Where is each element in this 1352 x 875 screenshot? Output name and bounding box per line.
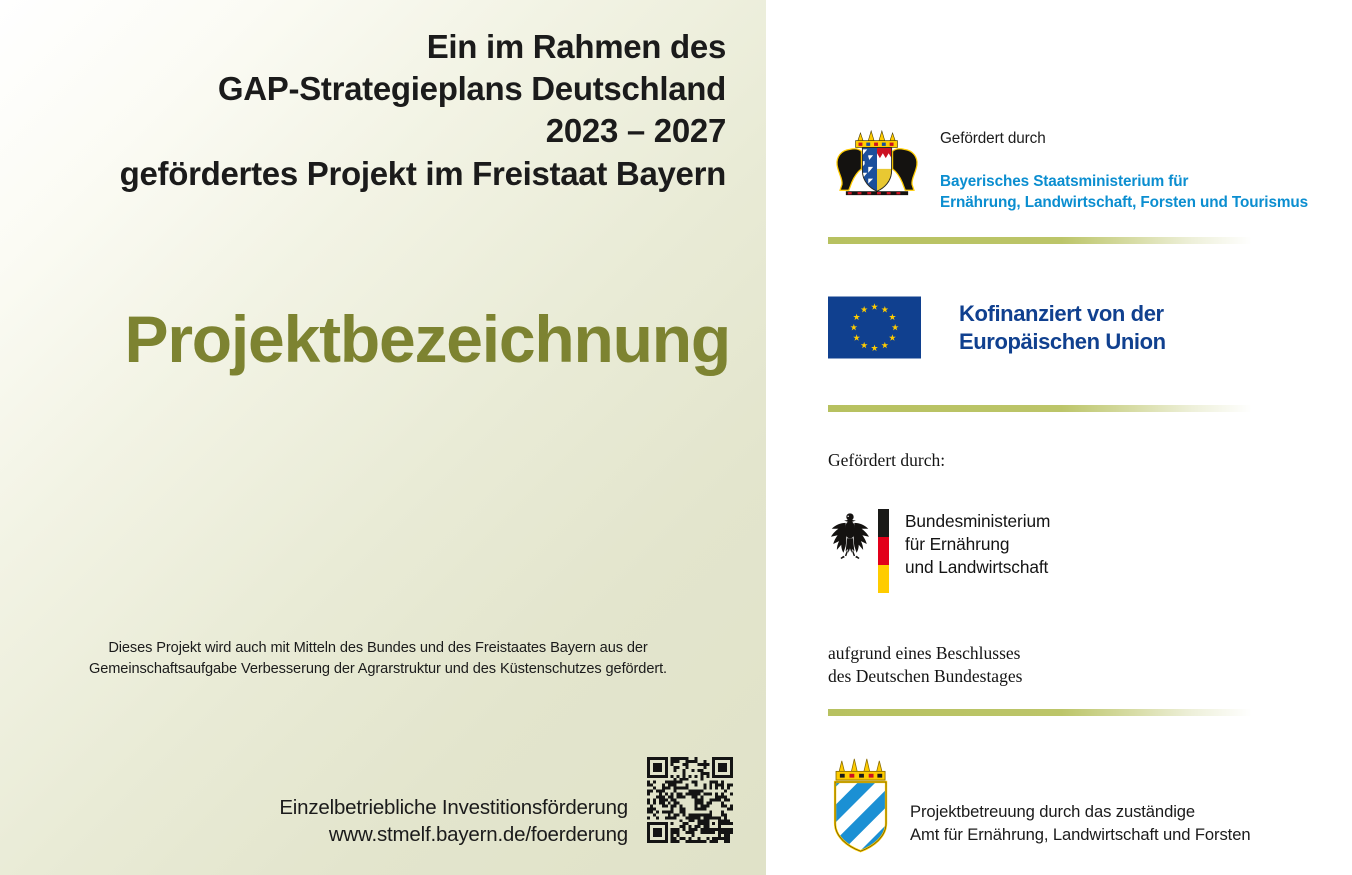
eu-text-line-2: Europäischen Union [959, 328, 1166, 355]
bundestag-line-1: aufgrund eines Beschlusses [828, 642, 1050, 665]
right-panel: Gefördert durch Bayerisches Staatsminist… [766, 0, 1352, 875]
bmel-name-line-2: für Ernährung [905, 533, 1050, 556]
bmel-name-line-1: Bundesministerium [905, 510, 1050, 533]
funding-fine-print: Dieses Projekt wird auch mit Mitteln des… [24, 638, 732, 681]
bmel-ministry-name: Bundesministerium für Ernährung und Land… [889, 509, 1050, 579]
bavarian-state-coat-of-arms-icon [828, 128, 926, 200]
aelf-text: Projektbetreuung durch das zuständige Am… [896, 800, 1250, 856]
program-url-label[interactable]: www.stmelf.bayern.de/foerderung [150, 821, 628, 848]
divider-3 [828, 709, 1252, 716]
program-name-label: Einzelbetriebliche Investitionsförderung [150, 794, 628, 821]
bmel-funded-by-label: Gefördert durch: [828, 450, 1050, 471]
aelf-block: Projektbetreuung durch das zuständige Am… [828, 756, 1250, 856]
headline-line-4: gefördertes Projekt im Freistaat Bayern [20, 153, 726, 195]
headline-line-1: Ein im Rahmen des [20, 26, 726, 68]
fine-print-line-2: Gemeinschaftsaufgabe Verbesserung der Ag… [24, 659, 732, 680]
fine-print-line-1: Dieses Projekt wird auch mit Mitteln des… [24, 638, 732, 659]
european-union-flag-icon [828, 296, 921, 359]
qr-code-icon[interactable] [647, 756, 733, 844]
program-url-block: Einzelbetriebliche Investitionsförderung… [150, 794, 628, 849]
flag-bar-black [878, 509, 889, 537]
headline-line-2: GAP-Strategieplans Deutschland [20, 68, 726, 110]
aelf-line-2: Amt für Ernährung, Landwirtschaft und Fo… [910, 823, 1250, 846]
european-union-text: Kofinanziert von der Europäischen Union [921, 300, 1166, 355]
german-flag-bar-icon [878, 509, 889, 593]
funding-sign-poster: Ein im Rahmen des GAP-Strategieplans Deu… [0, 0, 1352, 875]
project-title: Projektbezeichnung [20, 306, 730, 372]
page-headline: Ein im Rahmen des GAP-Strategieplans Deu… [20, 26, 726, 195]
ministry-name-line-1: Bayerisches Staatsministerium für [940, 172, 1308, 193]
divider-1 [828, 237, 1252, 244]
flag-bar-red [878, 537, 889, 565]
bavarian-ministry-name: Bayerisches Staatsministerium für Ernähr… [940, 172, 1308, 213]
bavarian-shield-icon [828, 756, 896, 856]
divider-2 [828, 405, 1252, 412]
flag-bar-gold [878, 565, 889, 593]
bavarian-ministry-block: Gefördert durch Bayerisches Staatsminist… [828, 128, 1308, 213]
federal-eagle-icon [828, 509, 872, 563]
bundestag-resolution-note: aufgrund eines Beschlusses des Deutschen… [828, 642, 1050, 688]
european-union-block: Kofinanziert von der Europäischen Union [828, 296, 1166, 359]
left-panel: Ein im Rahmen des GAP-Strategieplans Deu… [0, 0, 766, 875]
bundestag-line-2: des Deutschen Bundestages [828, 665, 1050, 688]
bmel-block: Gefördert durch: [828, 450, 1050, 688]
headline-line-3: 2023 – 2027 [20, 110, 726, 152]
ministry-name-line-2: Ernährung, Landwirtschaft, Forsten und T… [940, 193, 1308, 214]
bavarian-funded-by-label: Gefördert durch [940, 130, 1308, 148]
bmel-name-line-3: und Landwirtschaft [905, 556, 1050, 579]
eu-text-line-1: Kofinanziert von der [959, 300, 1166, 327]
aelf-line-1: Projektbetreuung durch das zuständige [910, 800, 1250, 823]
